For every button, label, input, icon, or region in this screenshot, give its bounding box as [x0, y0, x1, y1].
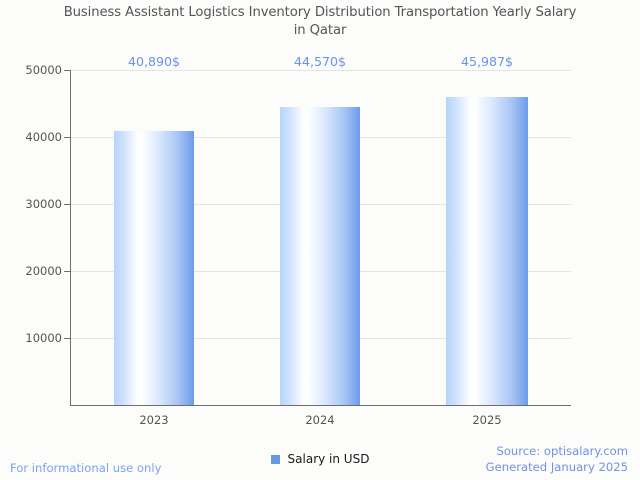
- footer-generated: Generated January 2025: [486, 460, 628, 476]
- y-tick-label-30000: 30000: [4, 197, 62, 211]
- bar-2025[interactable]: [446, 97, 528, 406]
- legend-item-salary-in-usd[interactable]: Salary in USD: [265, 450, 376, 468]
- legend-label: Salary in USD: [288, 452, 370, 466]
- bar-2023[interactable]: [114, 131, 194, 406]
- bar-2023-fill: [114, 131, 194, 406]
- bar-2024[interactable]: [280, 107, 360, 407]
- y-axis-tick-labels: 50000 40000 30000 20000 10000: [0, 0, 62, 480]
- data-label-2024: 44,570$: [294, 54, 346, 69]
- legend-swatch-icon: [271, 455, 280, 464]
- x-tick-label-2025: 2025: [472, 413, 501, 427]
- chart-title: Business Assistant Logistics Inventory D…: [0, 4, 640, 40]
- y-tick-label-40000: 40000: [4, 130, 62, 144]
- data-label-2025: 45,987$: [461, 54, 513, 69]
- x-tick-label-2024: 2024: [305, 413, 334, 427]
- gridline-50000: [71, 70, 571, 71]
- y-axis-line: [70, 70, 71, 406]
- x-tick-label-2023: 2023: [139, 413, 168, 427]
- plot-area: [71, 70, 571, 406]
- chart-title-line-2: in Qatar: [0, 22, 640, 40]
- data-label-2023: 40,890$: [128, 54, 180, 69]
- footer-disclaimer: For informational use only: [10, 461, 161, 475]
- bar-2024-fill: [280, 107, 360, 407]
- footer-source: Source: optisalary.com: [486, 444, 628, 460]
- y-tick-label-20000: 20000: [4, 264, 62, 278]
- chart-title-line-1: Business Assistant Logistics Inventory D…: [0, 4, 640, 22]
- x-axis-line: [71, 405, 571, 406]
- bar-2025-fill: [446, 97, 528, 406]
- y-tick-label-50000: 50000: [4, 63, 62, 77]
- y-tick-label-10000: 10000: [4, 331, 62, 345]
- footer-source-block: Source: optisalary.com Generated January…: [486, 444, 628, 475]
